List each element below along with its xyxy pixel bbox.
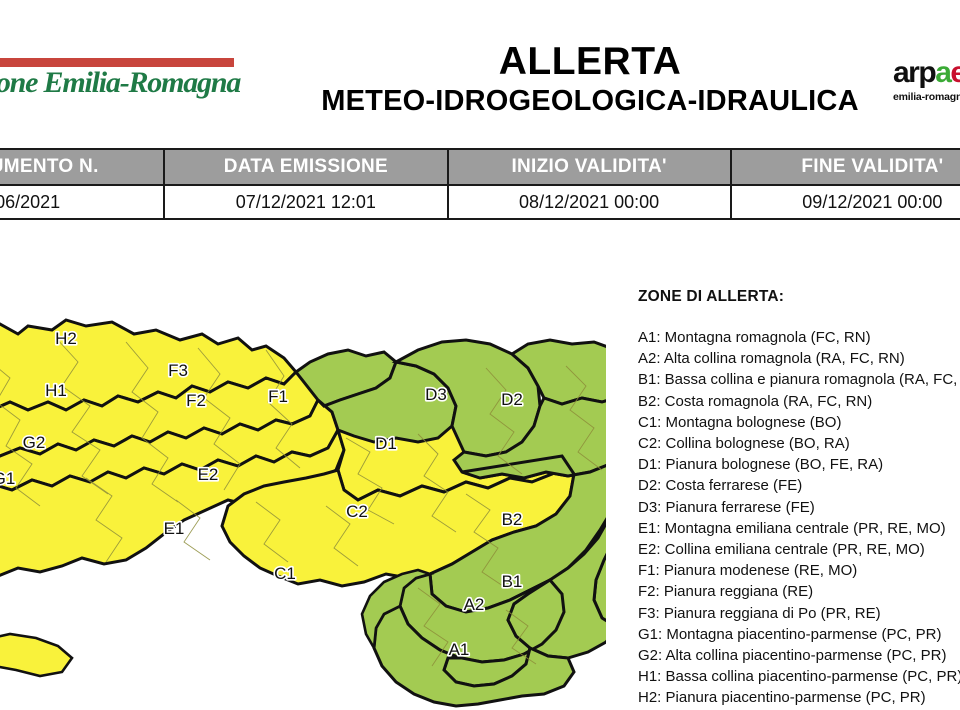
legend-item-C2: C2: Collina bolognese (BO, RA) xyxy=(638,433,960,454)
logo-text: Regione Emilia-Romagna xyxy=(0,66,234,100)
col-header-documento: DOCUMENTO N. xyxy=(0,149,164,185)
legend-item-D2: D2: Costa ferrarese (FE) xyxy=(638,475,960,496)
bulletin-info-table: DOCUMENTO N. DATA EMISSIONE INIZIO VALID… xyxy=(0,148,960,220)
arpae-logo-subtitle: emilia-romagna xyxy=(893,91,960,103)
arpae-logo: arpae emilia-romagna xyxy=(893,58,960,110)
col-header-data-emissione: DATA EMISSIONE xyxy=(164,149,447,185)
legend-item-B1: B1: Bassa collina e pianura romagnola (R… xyxy=(638,369,960,390)
map-label-D2: D2 xyxy=(501,390,523,409)
arpae-logo-e: e xyxy=(950,56,960,89)
alert-bulletin-page: Regione Emilia-Romagna ALLERTA METEO-IDR… xyxy=(0,0,960,710)
cell-inizio-validita: 08/12/2021 00:00 xyxy=(448,185,731,219)
legend-item-E1: E1: Montagna emiliana centrale (PR, RE, … xyxy=(638,518,960,539)
legend-item-F2: F2: Pianura reggiana (RE) xyxy=(638,581,960,602)
map-label-B1: B1 xyxy=(502,572,523,591)
alert-zones-legend: ZONE DI ALLERTA: A1: Montagna romagnola … xyxy=(638,288,960,709)
legend-item-G2: G2: Alta collina piacentino-parmense (PC… xyxy=(638,645,960,666)
legend-item-A2: A2: Alta collina romagnola (RA, FC, RN) xyxy=(638,348,960,369)
legend-item-H2: H2: Pianura piacentino-parmense (PC, PR) xyxy=(638,687,960,708)
map-label-C1: C1 xyxy=(274,564,296,583)
page-title: ALLERTA xyxy=(300,40,880,84)
map-label-A1: A1 xyxy=(449,640,470,659)
table-header-row: DOCUMENTO N. DATA EMISSIONE INIZIO VALID… xyxy=(0,149,960,185)
legend-item-E2: E2: Collina emiliana centrale (PR, RE, M… xyxy=(638,539,960,560)
map-zone-E1-tongue[interactable] xyxy=(0,634,72,676)
legend-list: A1: Montagna romagnola (FC, RN) A2: Alta… xyxy=(638,327,960,709)
map-label-H1: H1 xyxy=(45,381,67,400)
legend-item-H1: H1: Bassa collina piacentino-parmense (P… xyxy=(638,666,960,687)
regione-emilia-romagna-logo: Regione Emilia-Romagna xyxy=(0,58,234,116)
arpae-wordmark: arpae xyxy=(893,58,960,88)
map-label-F2: F2 xyxy=(186,391,206,410)
legend-item-D3: D3: Pianura ferrarese (FE) xyxy=(638,497,960,518)
map-label-E1: E1 xyxy=(164,519,185,538)
map-label-D3: D3 xyxy=(425,385,447,404)
map-label-H2: H2 xyxy=(55,329,77,348)
cell-fine-validita: 09/12/2021 00:00 xyxy=(731,185,960,219)
bulletin-info-table-wrap: DOCUMENTO N. DATA EMISSIONE INIZIO VALID… xyxy=(0,148,960,220)
emilia-romagna-map-svg: H2 H1 G2 G1 E2 E1 F3 F2 F1 D3 D2 D1 C2 C… xyxy=(0,250,606,710)
legend-item-G1: G1: Montagna piacentino-parmense (PC, PR… xyxy=(638,624,960,645)
map-label-B2: B2 xyxy=(502,510,523,529)
map-label-G2: G2 xyxy=(23,433,46,452)
legend-item-A1: A1: Montagna romagnola (FC, RN) xyxy=(638,327,960,348)
map-label-E2: E2 xyxy=(198,465,219,484)
col-header-fine-validita: FINE VALIDITA' xyxy=(731,149,960,185)
arpae-logo-a: a xyxy=(935,56,950,89)
map-label-A2: A2 xyxy=(464,595,485,614)
legend-item-C1: C1: Montagna bolognese (BO) xyxy=(638,412,960,433)
legend-item-D1: D1: Pianura bolognese (BO, FE, RA) xyxy=(638,454,960,475)
table-row: 106/2021 07/12/2021 12:01 08/12/2021 00:… xyxy=(0,185,960,219)
legend-item-F3: F3: Pianura reggiana di Po (PR, RE) xyxy=(638,603,960,624)
col-header-inizio-validita: INIZIO VALIDITA' xyxy=(448,149,731,185)
map-label-D1: D1 xyxy=(375,434,397,453)
page-header: Regione Emilia-Romagna ALLERTA METEO-IDR… xyxy=(0,0,960,140)
legend-item-F1: F1: Pianura modenese (RE, MO) xyxy=(638,560,960,581)
legend-item-B2: B2: Costa romagnola (RA, FC, RN) xyxy=(638,391,960,412)
arpae-logo-arp: arp xyxy=(893,56,935,89)
map-label-C2: C2 xyxy=(346,502,368,521)
legend-title: ZONE DI ALLERTA: xyxy=(638,288,960,306)
cell-documento-numero: 106/2021 xyxy=(0,185,164,219)
map-label-F1: F1 xyxy=(268,387,288,406)
map-label-F3: F3 xyxy=(168,361,188,380)
bulletin-title-block: ALLERTA METEO-IDROGEOLOGICA-IDRAULICA xyxy=(300,40,880,118)
alert-zones-map: H2 H1 G2 G1 E2 E1 F3 F2 F1 D3 D2 D1 C2 C… xyxy=(0,250,620,710)
map-label-G1: G1 xyxy=(0,469,15,488)
cell-data-emissione: 07/12/2021 12:01 xyxy=(164,185,447,219)
page-subtitle: METEO-IDROGEOLOGICA-IDRAULICA xyxy=(300,84,880,118)
